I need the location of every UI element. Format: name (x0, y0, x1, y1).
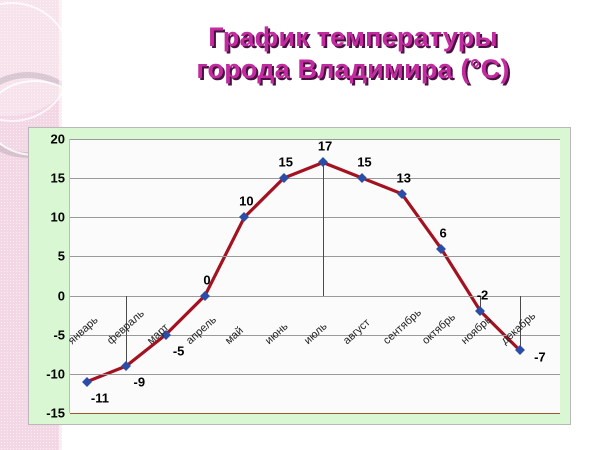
data-point-январь (82, 377, 92, 387)
plot-area: -11январь-9февраль-5март0апрель10май15ию… (69, 139, 560, 413)
data-label-март: -5 (173, 343, 185, 358)
data-label-июль: 17 (318, 139, 332, 154)
x-axis-label-сентябрь: сентябрь (381, 306, 424, 346)
title-line-2: города Владимира (°C) (196, 54, 509, 84)
data-label-август: 15 (357, 155, 371, 170)
x-axis-label-июнь: июнь (263, 320, 291, 346)
gridline-15 (70, 178, 560, 179)
gridline--15 (70, 413, 560, 414)
gridline-20 (70, 139, 560, 140)
data-label-апрель: 0 (203, 272, 210, 287)
data-label-февраль: -9 (133, 375, 145, 390)
x-axis-label-июль: июль (302, 320, 330, 347)
data-label-декабрь: -7 (534, 350, 546, 365)
y-axis-tick-20: 20 (29, 132, 65, 147)
y-axis-tick--10: -10 (29, 366, 65, 381)
y-axis-tick-10: 10 (29, 210, 65, 225)
gridline-5 (70, 256, 560, 257)
y-axis-tick-15: 15 (29, 171, 65, 186)
data-label-сентябрь: 13 (397, 170, 411, 185)
y-axis-tick-0: 0 (29, 288, 65, 303)
data-label-май: 10 (239, 194, 253, 209)
x-axis-label-октябрь: октябрь (420, 311, 458, 347)
data-point-декабрь (515, 345, 525, 355)
chart-container: -11январь-9февраль-5март0апрель10май15ию… (28, 127, 571, 425)
data-label-январь: -11 (91, 390, 109, 405)
annotation-vline-июль (323, 162, 324, 295)
x-axis-label-август: август (341, 316, 373, 346)
x-axis-label-декабрь: декабрь (499, 310, 538, 347)
x-axis-label-январь: январь (66, 314, 101, 347)
gridline-10 (70, 217, 560, 218)
y-axis-tick-5: 5 (29, 249, 65, 264)
title-line-1: График температуры (208, 22, 497, 52)
x-axis-label-ноябрь: ноябрь (459, 313, 494, 346)
data-label-июнь: 15 (278, 155, 292, 170)
data-label-ноябрь: -2 (477, 288, 489, 303)
data-label-октябрь: 6 (440, 225, 447, 240)
y-axis-tick--5: -5 (29, 327, 65, 342)
x-axis-label-май: май (223, 324, 246, 346)
page-title: График температуры города Владимира (°C) (118, 22, 588, 86)
y-axis-tick--15: -15 (29, 406, 65, 421)
x-axis-label-апрель: апрель (184, 313, 219, 346)
